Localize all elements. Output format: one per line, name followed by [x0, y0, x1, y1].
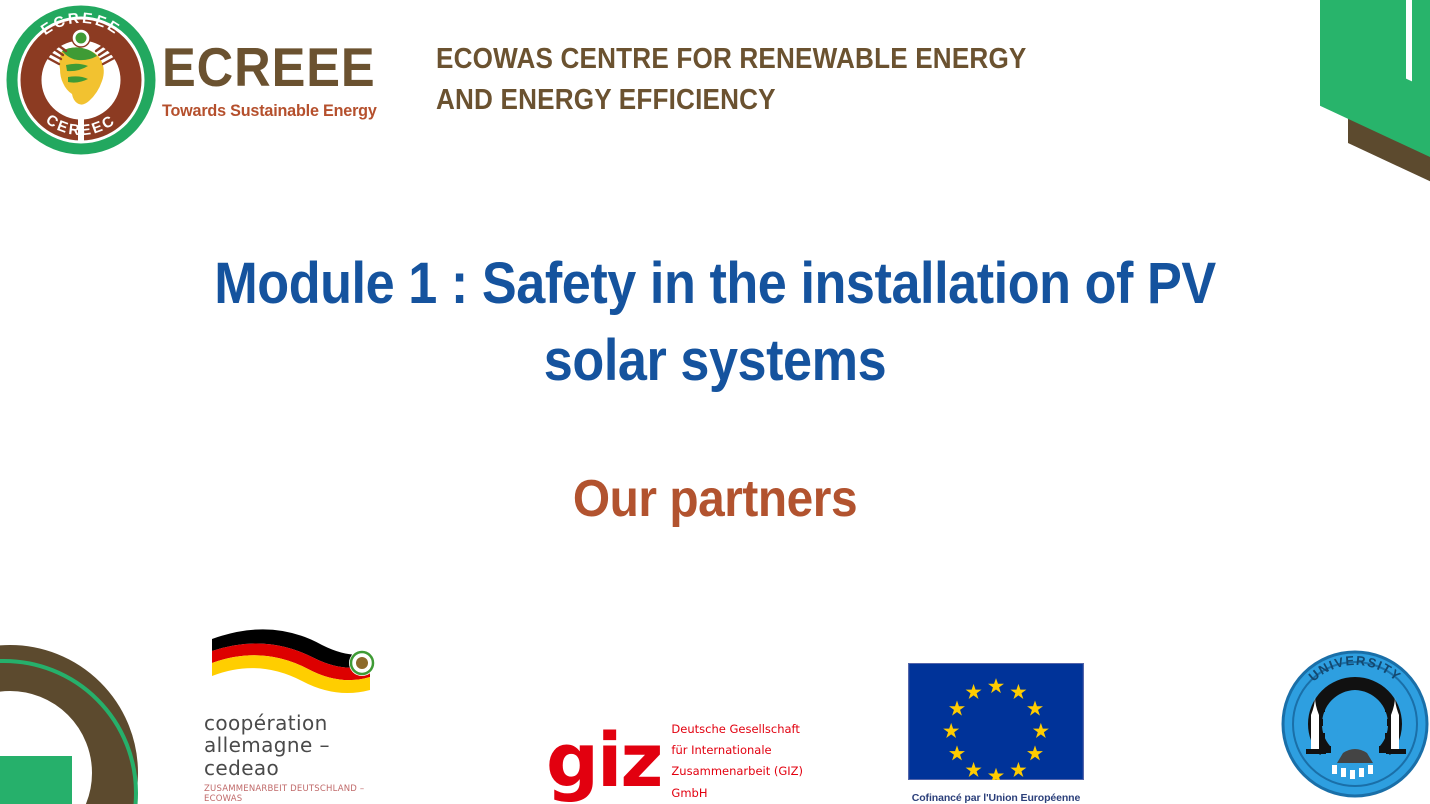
partner-german-ecowas-cooperation: coopération allemagne – cedeao ZUSAMMENA… — [204, 615, 394, 804]
partners-heading: Our partners — [195, 469, 1235, 529]
partner-european-union: Cofinancé par l'Union Européenne — [908, 663, 1084, 804]
presentation-slide: ECREEE CEREEC ECREEE Towards Sustainable… — [0, 0, 1430, 804]
eu-flag-icon — [908, 663, 1084, 785]
giz-mark-text: giz — [546, 733, 661, 791]
organization-name: ECOWAS CENTRE FOR RENEWABLE ENERGY AND E… — [436, 39, 1027, 121]
eu-caption: Cofinancé par l'Union Européenne — [912, 792, 1080, 804]
green-block-shape — [0, 756, 72, 804]
corner-decoration-bottom-left — [0, 619, 140, 804]
giz-subtitle: Deutsche Gesellschaft für Internationale… — [671, 719, 810, 804]
university-seal-icon: UNIVERSITY — [1280, 649, 1430, 804]
cooperation-line-1: coopération — [204, 712, 394, 734]
module-title: Module 1 : Safety in the installation of… — [207, 246, 1224, 399]
ecreee-emblem-icon: ECREEE CEREEC — [6, 5, 156, 155]
corner-decoration-top-right — [1320, 0, 1430, 190]
cooperation-line-3: ZUSAMMENARBEIT DEUTSCHLAND – ECOWAS — [204, 784, 394, 804]
slide-header: ECREEE CEREEC ECREEE Towards Sustainable… — [0, 0, 1092, 160]
ecreee-wordmark: ECREEE Towards Sustainable Energy — [162, 40, 394, 121]
brown-arc-shape — [0, 645, 138, 804]
wordmark-tagline: Towards Sustainable Energy — [162, 101, 383, 121]
partner-logo-row: coopération allemagne – cedeao ZUSAMMENA… — [180, 624, 1430, 804]
white-notch-shape — [1406, 0, 1412, 81]
cooperation-line-2: allemagne – cedeao — [204, 734, 394, 779]
partner-university: UNIVERSITY — [1280, 649, 1430, 804]
wordmark-text: ECREEE — [162, 40, 376, 95]
brown-slab-shape — [1348, 0, 1430, 190]
german-flag-swoosh-icon — [204, 615, 394, 710]
giz-logo-icon: giz Deutsche Gesellschaft für Internatio… — [546, 719, 810, 804]
partner-giz: giz Deutsche Gesellschaft für Internatio… — [546, 719, 810, 804]
green-arc-line-shape — [0, 659, 138, 804]
cooperation-caption: coopération allemagne – cedeao ZUSAMMENA… — [204, 712, 394, 804]
green-slab-shape — [1320, 0, 1430, 158]
title-block: Module 1 : Safety in the installation of… — [150, 246, 1280, 529]
